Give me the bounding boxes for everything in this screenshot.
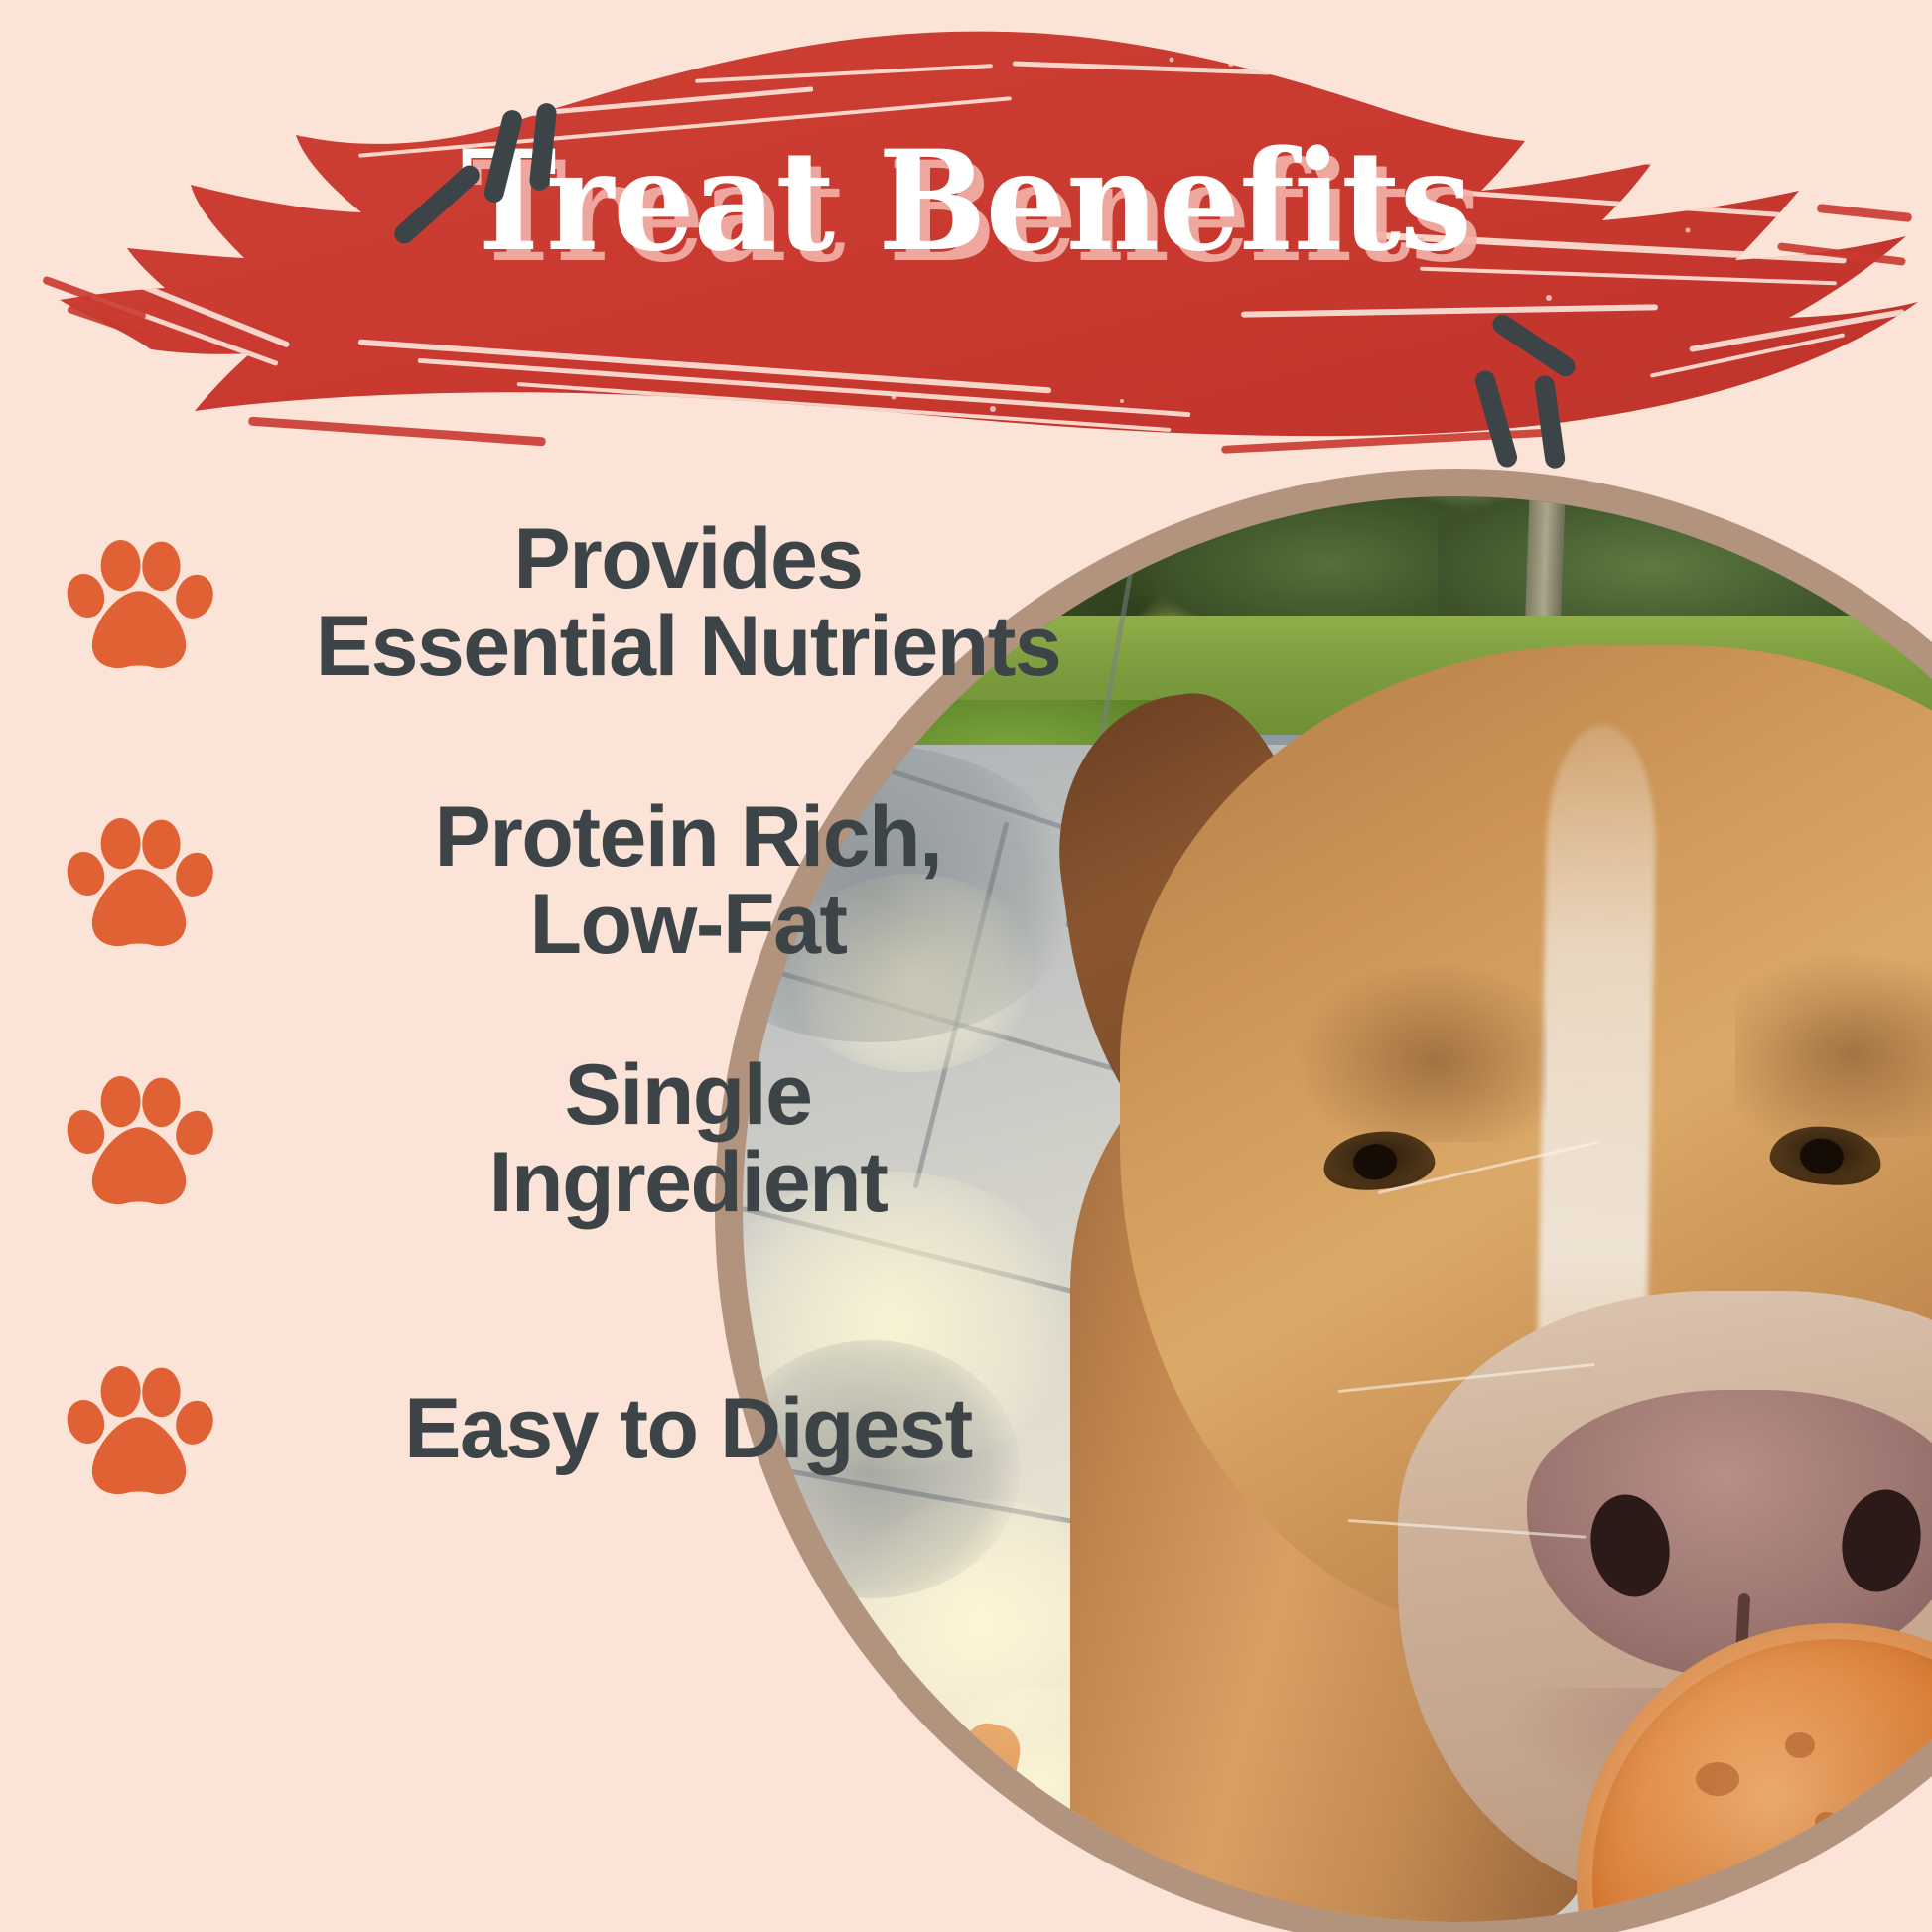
paw-print-icon — [60, 1060, 218, 1219]
dog-pupil — [1798, 1137, 1845, 1176]
dog-brow-left — [1299, 963, 1547, 1142]
treat-pore — [1815, 1812, 1839, 1832]
benefit-label: Single Ingredient — [232, 1052, 1172, 1226]
dog-brow-right — [1735, 953, 1932, 1137]
benefit-item-protein-rich-low-fat[interactable]: Protein Rich, Low-Fat — [0, 794, 1172, 968]
page-title-text: Treat Benefits — [461, 132, 1471, 270]
treat-pore — [1735, 1876, 1787, 1916]
paw-print-icon — [60, 1350, 218, 1509]
paw-print-icon — [60, 802, 218, 961]
benefits-list: Provides Essential Nutrients Protein Ric… — [0, 496, 1172, 1906]
benefit-label: Provides Essential Nutrients — [232, 516, 1172, 690]
benefit-label: Easy to Digest — [232, 1386, 1172, 1473]
paw-print-icon — [60, 524, 218, 683]
benefit-item-easy-to-digest[interactable]: Easy to Digest — [0, 1350, 1172, 1509]
treat-pore — [1696, 1762, 1739, 1796]
dog-pupil — [1352, 1142, 1399, 1181]
page-title: Treat Benefits — [0, 132, 1932, 270]
benefit-item-single-ingredient[interactable]: Single Ingredient — [0, 1052, 1172, 1226]
benefit-label: Protein Rich, Low-Fat — [232, 794, 1172, 968]
treat-pore — [1874, 1792, 1912, 1822]
treat-pore — [1785, 1732, 1815, 1758]
poster-canvas: Treat Benefits — [0, 0, 1932, 1932]
benefit-item-provides-essential-nutrients[interactable]: Provides Essential Nutrients — [0, 516, 1172, 690]
